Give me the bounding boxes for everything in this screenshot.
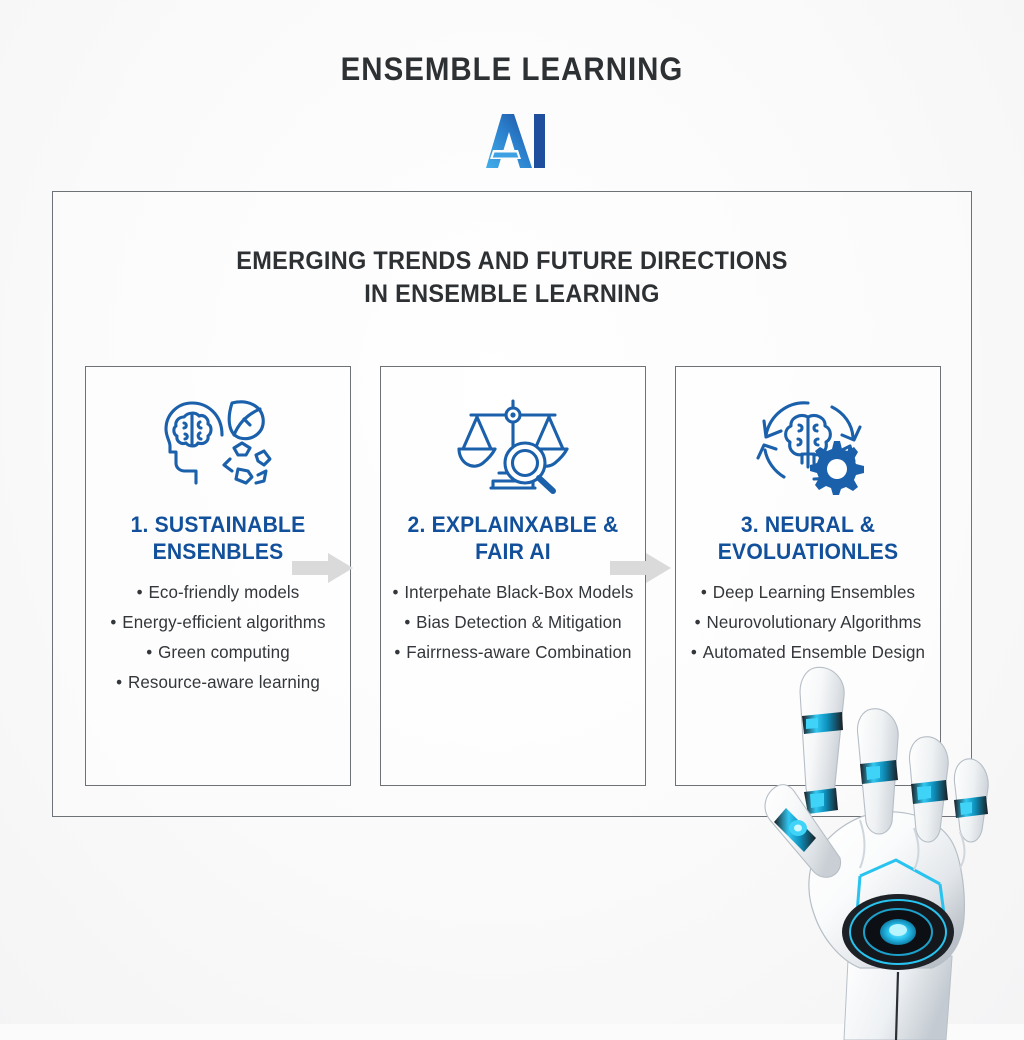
- list-item: Deep Learning Ensembles: [683, 577, 933, 607]
- card-title-line-1: 1. SUSTAINABLE: [131, 512, 306, 537]
- card-title: 2. EXPLAINXABLE & FAIR AI: [398, 511, 628, 565]
- flow-arrow-1-to-2: [292, 552, 354, 584]
- card-bullet-list: Interpehate Black-Box Models Bias Detect…: [384, 577, 642, 667]
- flow-arrow-2-to-3: [610, 552, 672, 584]
- card-title-line-1: 3. NEURAL &: [741, 512, 875, 537]
- card-bullet-list: Eco-friendly models Energy-efficient alg…: [89, 577, 347, 697]
- list-item: Automated Ensemble Design: [683, 637, 933, 667]
- card-title-line-2: EVOLUATIONLES: [718, 539, 898, 564]
- card-title-line-1: 2. EXPLAINXABLE &: [408, 512, 619, 537]
- list-item: Resource-aware learning: [93, 667, 343, 697]
- list-item: Interpehate Black-Box Models: [388, 577, 638, 607]
- brain-leaf-recycle-icon: [160, 389, 276, 497]
- card-neural-evolutionary[interactable]: 3. NEURAL & EVOLUATIONLES Deep Learning …: [675, 366, 941, 786]
- ai-logo-icon: [476, 112, 548, 170]
- list-item: Green computing: [93, 637, 343, 667]
- brain-gear-cycle-icon: [750, 389, 866, 497]
- card-bullet-list: Deep Learning Ensembles Neurovolutionary…: [679, 577, 937, 667]
- card-explainable-fair-ai[interactable]: 2. EXPLAINXABLE & FAIR AI Interpehate Bl…: [380, 366, 646, 786]
- list-item: Bias Detection & Mitigation: [388, 607, 638, 637]
- cards-row: 1. SUSTAINABLE ENSENBLES Eco-friendly mo…: [85, 366, 941, 786]
- list-item: Fairrness-aware Combination: [388, 637, 638, 667]
- balance-scale-magnifier-icon: [455, 389, 571, 497]
- section-subtitle: EMERGING TRENDS AND FUTURE DIRECTIONS IN…: [31, 245, 994, 311]
- subtitle-line-2: IN ENSEMBLE LEARNING: [31, 278, 994, 311]
- card-title-line-2: ENSENBLES: [153, 539, 284, 564]
- card-title-line-2: FAIR AI: [475, 539, 551, 564]
- page-title: ENSEMBLE LEARNING: [41, 51, 983, 88]
- subtitle-line-1: EMERGING TRENDS AND FUTURE DIRECTIONS: [31, 245, 994, 278]
- ai-logo: [0, 112, 1024, 170]
- card-title: 3. NEURAL & EVOLUATIONLES: [693, 511, 923, 565]
- list-item: Neurovolutionary Algorithms: [683, 607, 933, 637]
- list-item: Energy-efficient algorithms: [93, 607, 343, 637]
